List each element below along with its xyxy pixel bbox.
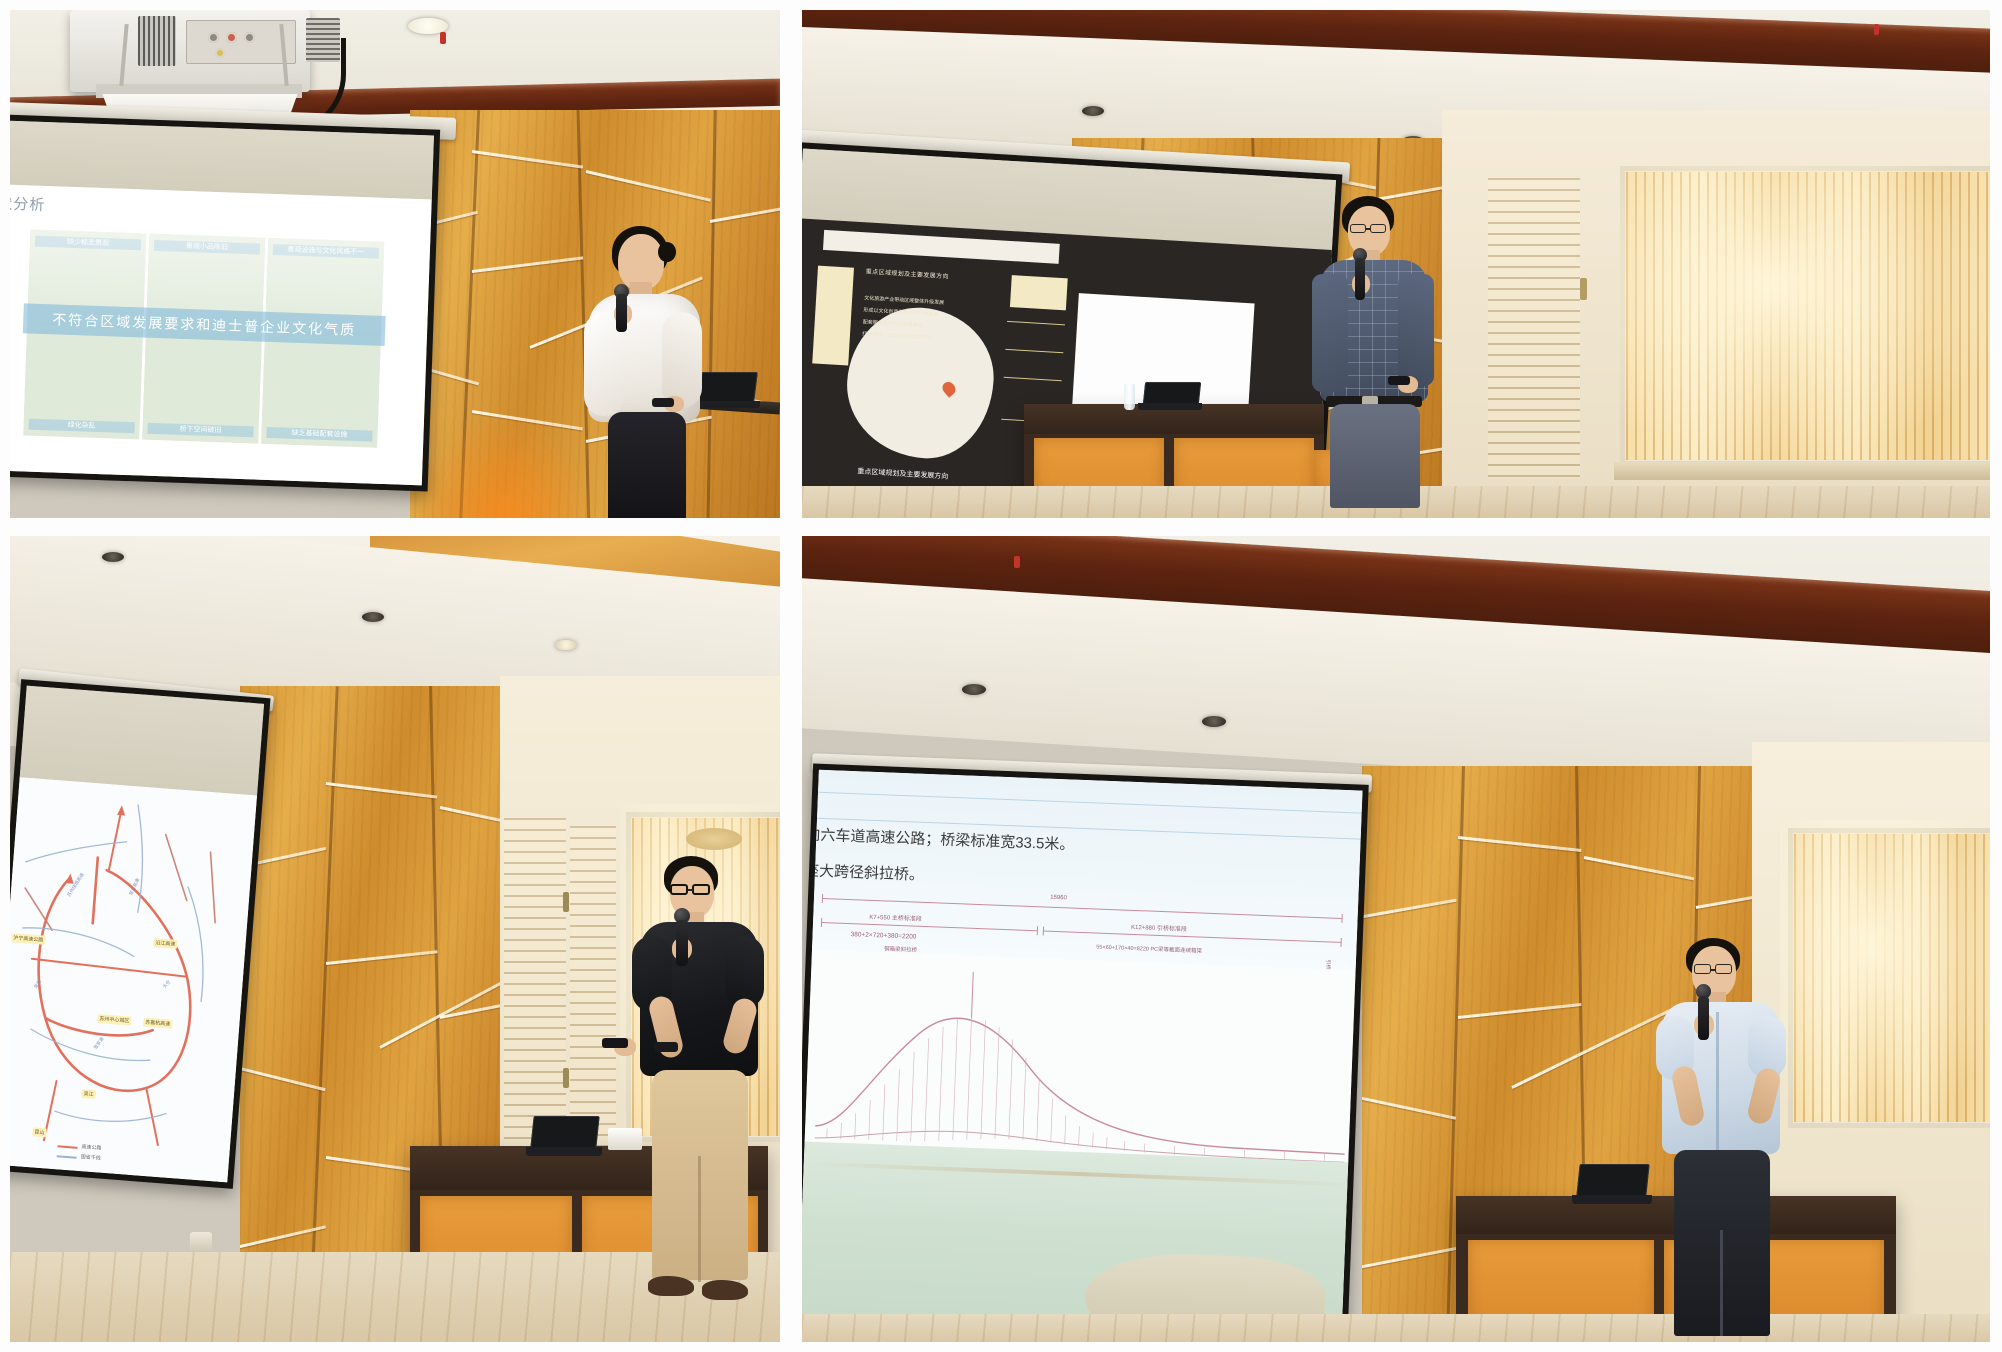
trouser-leg-split [698, 1156, 701, 1282]
info-divider [1007, 321, 1065, 325]
map-place-label: 吴江 [81, 1089, 96, 1099]
panel-top-left: 状分析 缺少标志景观 绿化杂乱 景观小品陈旧 桥下空间破旧 景 [0, 0, 790, 528]
wall-inlay-stripe [326, 950, 438, 965]
panel-top-right-photo: 重点区域规划及主要发展方向 文化旅游产业带动区域整体升级发展 形成以文化创意为核… [802, 10, 1990, 518]
info-card-left [812, 266, 854, 366]
map-place-label: 昆山 [32, 1127, 47, 1137]
window-sill [1614, 462, 1990, 480]
bridge-total-length-label: 15960 [1050, 895, 1067, 902]
arm-left [662, 312, 702, 408]
projector-vent-grille [138, 16, 176, 66]
glasses-bridge [688, 889, 693, 891]
projector-connector-d [215, 48, 225, 58]
legend-label-secondary: 国省干线 [81, 1153, 101, 1162]
projection-screen: 双向六车道高速公路；桥梁标准宽33.5米。 两座大跨径斜拉桥。 15960 K7… [802, 764, 1369, 1342]
wall-inlay-stripe [1458, 836, 1582, 852]
wall-panel-seam [308, 686, 338, 1342]
wall-inlay-stripe [240, 1225, 326, 1249]
photo-collage: 状分析 缺少标志景观 绿化杂乱 景观小品陈旧 桥下空间破旧 景 [0, 0, 2002, 1352]
info-caption-left: 重点区域规划及主要发展方向 [808, 463, 998, 484]
wall-inlay-stripe [379, 976, 510, 1049]
slide-bridge-spec: 双向六车道高速公路；桥梁标准宽33.5米。 两座大跨径斜拉桥。 15960 K7… [802, 770, 1363, 1342]
road-network-svg [10, 777, 255, 1182]
shoe-right [702, 1280, 748, 1300]
screen-blank-area [20, 686, 264, 796]
wall-inlay-stripe [1362, 1096, 1456, 1120]
map-place-label: 沿江高速 [153, 938, 178, 949]
projector-connector-a [208, 32, 219, 43]
info-divider [1004, 377, 1062, 381]
slide-header-band [823, 230, 1060, 264]
laptop-base [1138, 403, 1202, 410]
door-hinge-icon [1580, 278, 1587, 300]
projection-screen-surface: 双向六车道高速公路；桥梁标准宽33.5米。 两座大跨径斜拉桥。 15960 K7… [802, 770, 1363, 1342]
laptop-screen [530, 1116, 599, 1148]
laptop [1572, 1164, 1652, 1204]
info-heading: 重点区域规划及主要发展方向 [866, 266, 950, 280]
presenter-woman [566, 220, 726, 518]
panel-top-right: 重点区域规划及主要发展方向 文化旅游产业带动区域整体升级发展 形成以文化创意为核… [790, 0, 2002, 528]
ceiling-downlight [362, 612, 384, 622]
info-card-right [1010, 275, 1068, 310]
legend-label-highway: 高速公路 [81, 1143, 101, 1152]
slide-current-analysis: 状分析 缺少标志景观 绿化杂乱 景观小品陈旧 桥下空间破旧 景 [10, 185, 432, 486]
panel-bottom-left-photo: 沪宁高速公路 沿江高速 苏州中心城区 苏嘉杭高速 吴江 昆山 苏州绕城高速 常台… [10, 536, 780, 1342]
microphone [1698, 996, 1709, 1040]
shoe-left [648, 1276, 694, 1296]
glasses [1694, 964, 1711, 974]
wall-inlay-stripe [1362, 1247, 1456, 1269]
panel-bottom-right-photo: 双向六车道高速公路；桥梁标准宽33.5米。 两座大跨径斜拉桥。 15960 K7… [802, 536, 1990, 1342]
info-body-line: 文化旅游产业带动区域整体升级发展 [864, 294, 944, 306]
fire-sprinkler-icon [1014, 556, 1020, 568]
wall-inlay-stripe [472, 150, 583, 169]
arm-left [1398, 274, 1434, 386]
slide-photo-caption: 缺乏基础配套设施 [266, 427, 373, 442]
projection-screen: 沪宁高速公路 沿江高速 苏州中心城区 苏嘉杭高速 吴江 昆山 苏州绕城高速 常台… [10, 679, 271, 1189]
microphone [616, 294, 627, 332]
legend-swatch-secondary [57, 1155, 77, 1159]
window-glow [1620, 166, 1990, 466]
slide-photo-caption: 景观设施与文化风格不一 [272, 244, 379, 259]
laptop-base [1572, 1195, 1652, 1204]
slide-photo-caption: 缺少标志景观 [34, 236, 141, 251]
slide-photo-caption: 景观小品陈旧 [153, 240, 260, 255]
wall-inlay-stripe [1458, 1003, 1582, 1019]
door-hinge-icon [563, 1068, 569, 1088]
fire-sprinkler-icon [1874, 24, 1879, 35]
ceiling-downlight [1202, 716, 1226, 727]
glasses-bridge [1366, 228, 1371, 230]
laptop [526, 1116, 602, 1156]
slide-photo-caption: 桥下空间破旧 [147, 423, 254, 438]
shirt-placket [1716, 1012, 1719, 1152]
glasses [692, 884, 710, 895]
trouser-leg-split [1720, 1230, 1723, 1336]
curtain-tieback [686, 828, 742, 850]
bridge-spec-line-2: 两座大跨径斜拉桥。 [802, 859, 924, 885]
laptop-screen [1143, 382, 1201, 404]
wall-inlay-stripe [586, 170, 711, 202]
water-bottle [1124, 384, 1135, 410]
laptop-screen [1576, 1164, 1649, 1196]
glasses-bridge [1711, 969, 1716, 971]
arm-left [726, 936, 764, 1008]
glasses [1370, 224, 1386, 233]
info-divider [1005, 349, 1063, 353]
floor-box [190, 1232, 212, 1252]
laptop [1138, 382, 1202, 410]
ceiling-downlight [102, 552, 124, 562]
presenter-man-checked-shirt [1300, 196, 1460, 518]
projection-screen-surface: 状分析 缺少标志景观 绿化杂乱 景观小品陈旧 桥下空间破旧 景 [10, 121, 434, 486]
panel-bottom-left: 沪宁高速公路 沿江高速 苏州中心城区 苏嘉杭高速 吴江 昆山 苏州绕城高速 常台… [0, 528, 790, 1352]
wall-inlay-stripe [1584, 856, 1695, 880]
microphone [676, 920, 688, 966]
bridge-left-note: 钢箱梁斜拉桥 [884, 944, 917, 953]
fire-sprinkler-icon [440, 32, 446, 44]
presentation-clicker[interactable] [602, 1038, 628, 1048]
bridge-right-note: 引桥 [1325, 959, 1332, 969]
slide-title: 状分析 [10, 192, 46, 215]
wall-inlay-stripe [240, 1066, 326, 1091]
microphone [1355, 258, 1365, 300]
presentation-clicker[interactable] [1388, 376, 1410, 385]
slide-road-network: 沪宁高速公路 沿江高速 苏州中心城区 苏嘉杭高速 吴江 昆山 苏州绕城高速 常台… [10, 777, 257, 1182]
ceiling-downlight [555, 640, 577, 650]
arm-right [1312, 274, 1348, 392]
projection-screen: 状分析 缺少标志景观 绿化杂乱 景观小品陈旧 桥下空间破旧 景 [10, 114, 440, 491]
hair-bun [658, 242, 676, 262]
slatted-door [1488, 178, 1580, 478]
presenter-man-light-shirt [1642, 938, 1822, 1342]
panel-top-left-photo: 状分析 缺少标志景观 绿化杂乱 景观小品陈旧 桥下空间破旧 景 [10, 10, 780, 518]
wall-inlay-stripe [1362, 899, 1457, 919]
laptop-base [526, 1147, 602, 1156]
trousers [1330, 404, 1420, 508]
projection-screen-surface: 沪宁高速公路 沿江高速 苏州中心城区 苏嘉杭高速 吴江 昆山 苏州绕城高速 常台… [10, 686, 264, 1183]
presenter-man-black-polo [618, 856, 780, 1342]
ceiling-downlight [962, 684, 986, 695]
glasses [1350, 224, 1366, 233]
slide-photo-caption: 绿化杂乱 [28, 419, 135, 434]
ceiling-downlight [1082, 106, 1104, 116]
door-hinge-icon [563, 892, 569, 912]
panel-bottom-right: 双向六车道高速公路；桥梁标准宽33.5米。 两座大跨径斜拉桥。 15960 K7… [790, 528, 2002, 1352]
wristwatch [654, 1042, 678, 1052]
trousers [608, 412, 686, 518]
wall-inlay-stripe [326, 782, 438, 799]
legend-swatch-highway [57, 1145, 77, 1149]
glasses [670, 884, 688, 895]
glasses [1715, 964, 1732, 974]
presentation-clicker[interactable] [652, 398, 674, 407]
